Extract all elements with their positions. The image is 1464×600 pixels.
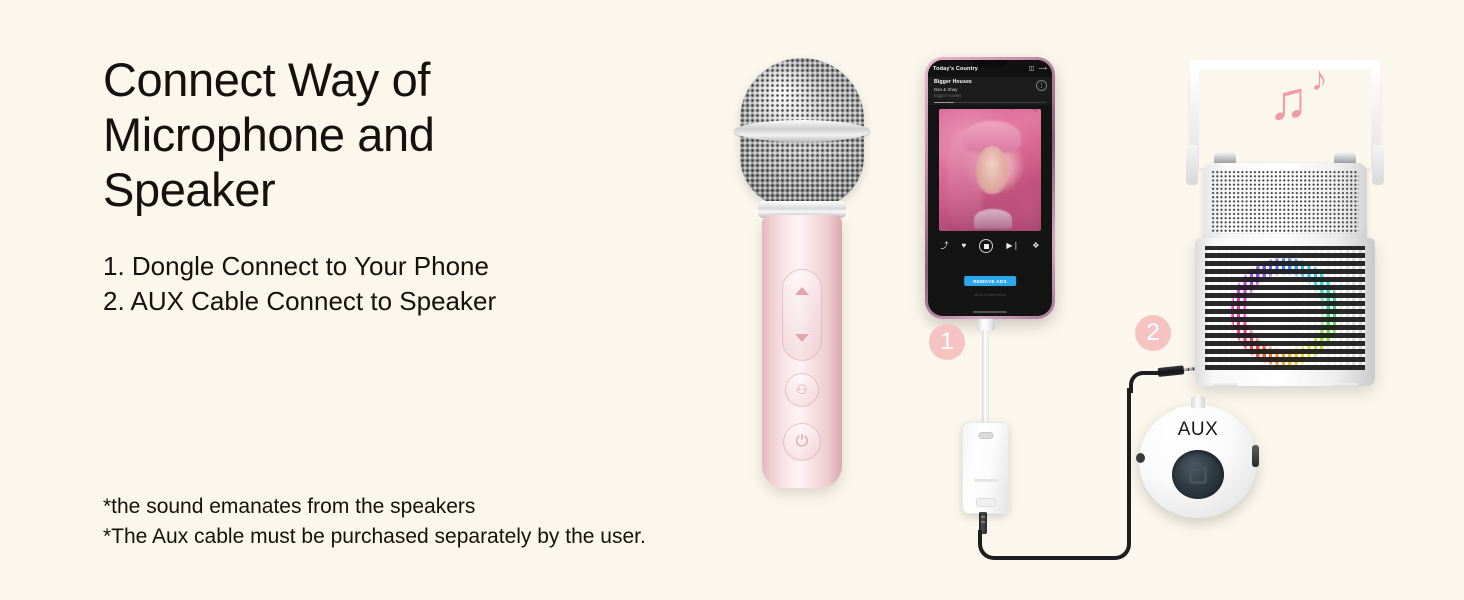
more-vertical-icon: ⋮ <box>1036 80 1047 91</box>
playback-progress-bar <box>934 102 1046 103</box>
favorite-heart-icon: ♥ <box>962 242 967 250</box>
steps-list: 1. Dongle Connect to Your Phone 2. AUX C… <box>103 249 663 319</box>
usb-c-cable <box>982 330 989 424</box>
share-icon: ⤴ <box>941 242 949 250</box>
aux-module-stem <box>1191 396 1205 408</box>
dongle-label-strip <box>974 479 998 482</box>
infographic-canvas: Connect Way of Microphone and Speaker 1.… <box>0 0 1464 600</box>
aux-module-nub-right <box>1252 445 1259 467</box>
skip-next-icon: ▶❘ <box>1006 242 1019 250</box>
aux-jack-inner-ring <box>1189 466 1207 484</box>
now-playing-info: Bigger Houses Dan & Shay Bigger Houses ⋮ <box>928 77 1052 105</box>
speaker-handle-mount-right <box>1372 145 1384 185</box>
music-note-large-icon: ♫ <box>1268 74 1309 128</box>
microphone-handle: ⚇ ⏻ <box>762 215 842 488</box>
aux-jack-socket <box>1172 450 1224 499</box>
microphone-product-image: ⚇ ⏻ <box>722 58 882 488</box>
step-item-2: 2. AUX Cable Connect to Speaker <box>103 284 663 319</box>
power-button: ⏻ <box>783 423 821 461</box>
album-artwork <box>939 109 1041 231</box>
speaker-handle-mount-left <box>1186 145 1198 185</box>
speaker-top-mesh <box>1211 170 1359 234</box>
track-artist: Dan & Shay <box>934 87 1046 92</box>
artwork-necklace <box>974 209 1013 229</box>
step-badge-2: 2 <box>1135 315 1171 351</box>
step-item-1: 1. Dongle Connect to Your Phone <box>103 249 663 284</box>
speaker-grille-mesh <box>1205 246 1365 370</box>
speaker-foot-right <box>1333 383 1357 386</box>
remove-ads-button: REMOVE ADS <box>964 276 1016 286</box>
aux-cable-riser <box>1127 388 1131 534</box>
footnote-2: *The Aux cable must be purchased separat… <box>103 522 646 552</box>
shuffle-icon: ❖ <box>1032 242 1039 250</box>
dongle-headphone-jack <box>976 498 996 507</box>
page-title: Connect Way of Microphone and Speaker <box>103 52 663 217</box>
phone-notch <box>973 60 1007 67</box>
music-note-small-icon: ♪ <box>1311 62 1328 95</box>
footnotes: *the sound emanates from the speakers *T… <box>103 492 646 552</box>
ads-subtext: Allow Notifications <box>974 292 1006 297</box>
effects-button: ⚇ <box>785 373 819 407</box>
bluetooth-icon: ⟶ <box>1038 66 1047 72</box>
aux-cable-loop <box>978 530 1131 560</box>
aux-module-nub-left <box>1136 453 1145 463</box>
step-badge-1: 1 <box>929 324 965 360</box>
aux-label: AUX <box>1178 419 1219 441</box>
speaker-tweeter-panel <box>1203 163 1367 241</box>
app-title: Today's Country <box>933 66 978 72</box>
speaker-main-cabinet <box>1195 238 1375 386</box>
text-column: Connect Way of Microphone and Speaker 1.… <box>103 52 663 319</box>
track-title: Bigger Houses <box>934 79 1046 85</box>
phone-screen: Today's Country ◫ ⟶ Bigger Houses Dan & … <box>928 60 1052 316</box>
artwork-face <box>976 146 1009 195</box>
stop-button-icon <box>979 239 993 253</box>
track-album: Bigger Houses <box>934 93 1046 98</box>
music-notes-decoration: ♫ ♪ <box>1268 62 1348 142</box>
aux-port-module: AUX <box>1139 405 1257 518</box>
microphone-trim-ring <box>734 120 870 142</box>
speaker-foot-left <box>1213 383 1237 386</box>
smartphone-product-image: Today's Country ◫ ⟶ Bigger Houses Dan & … <box>925 57 1055 319</box>
dongle-usb-port <box>978 432 993 439</box>
cast-icon: ◫ <box>1029 66 1035 72</box>
audio-dongle-adapter <box>962 422 1009 514</box>
aux-cable-elbow <box>1129 371 1161 393</box>
volume-up-button <box>795 287 809 295</box>
player-controls: ⤴ ♥ ▶❘ ❖ <box>928 236 1052 256</box>
home-indicator <box>973 311 1007 313</box>
volume-down-button <box>795 334 809 342</box>
footnote-1: *the sound emanates from the speakers <box>103 492 646 522</box>
microphone-volume-rocker <box>782 269 822 361</box>
